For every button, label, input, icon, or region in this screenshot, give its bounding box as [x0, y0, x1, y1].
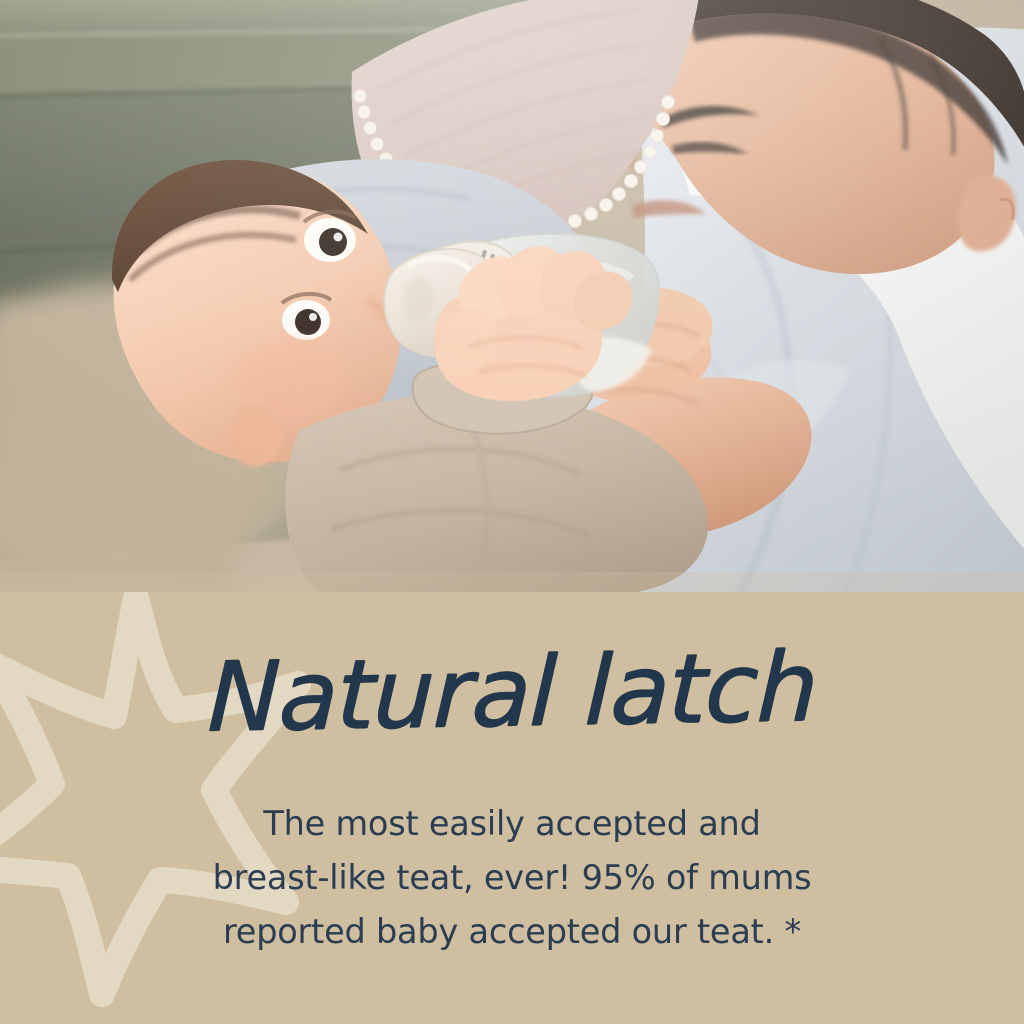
description-line-3: reported baby accepted our teat. * — [122, 905, 902, 959]
feature-description: The most easily accepted and breast-like… — [122, 797, 902, 960]
feature-text-panel: Natural latch The most easily accepted a… — [0, 592, 1024, 1024]
description-line-2: breast-like teat, ever! 95% of mums — [122, 851, 902, 905]
product-feature-card: Natural latch The most easily accepted a… — [0, 0, 1024, 1024]
page-title: Natural latch — [206, 637, 818, 748]
description-line-1: The most easily accepted and — [122, 797, 902, 851]
hero-photo — [0, 0, 1024, 593]
